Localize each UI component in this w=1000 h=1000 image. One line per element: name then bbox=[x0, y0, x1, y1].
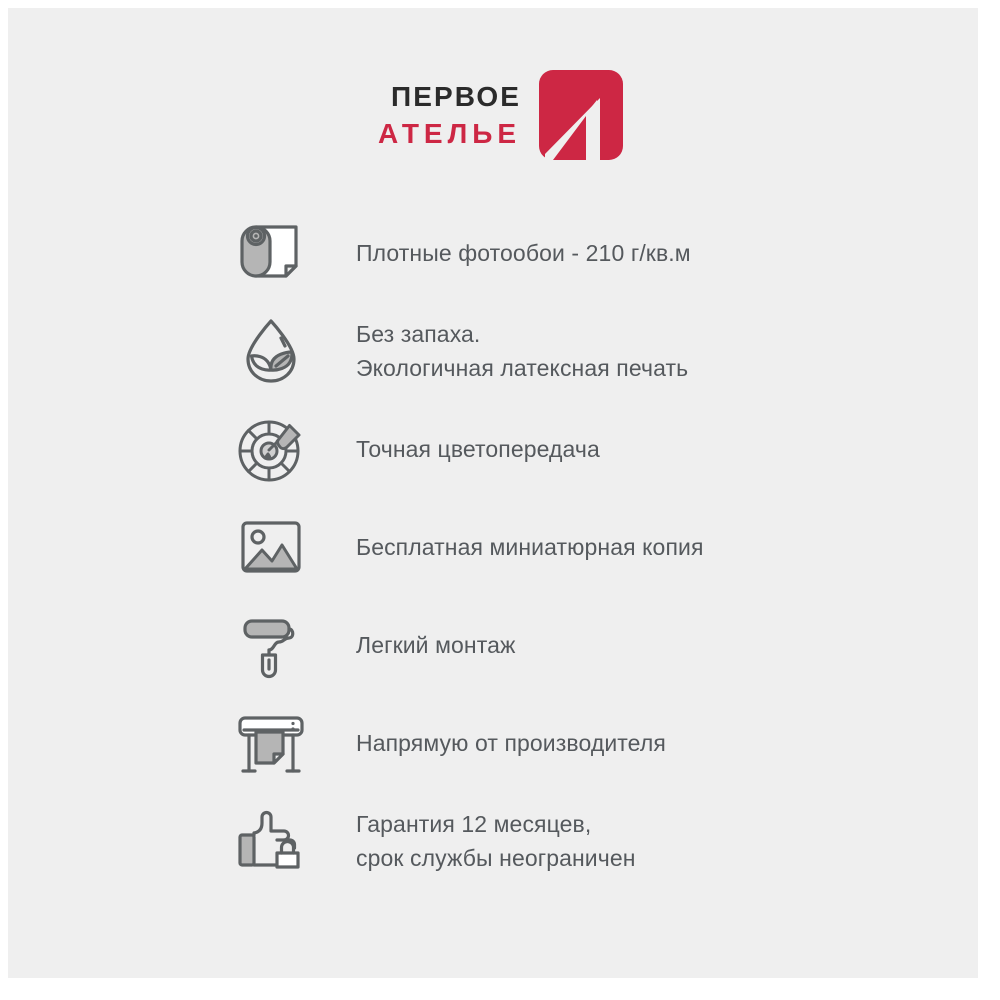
feature-label: Без запаха. Экологичная латексная печать bbox=[356, 317, 688, 385]
feature-label: Напрямую от производителя bbox=[356, 726, 666, 760]
feature-item: Напрямую от производителя bbox=[230, 694, 930, 792]
thumbs-up-lock-icon bbox=[230, 800, 312, 882]
feature-label: Гарантия 12 месяцев, срок службы неогран… bbox=[356, 807, 636, 875]
picture-frame-icon bbox=[230, 506, 312, 588]
feature-item: Точная цветопередача bbox=[230, 400, 930, 498]
wallpaper-roll-icon bbox=[230, 212, 312, 294]
red-arrow-mark-icon bbox=[539, 70, 623, 160]
feature-item: Плотные фотообои - 210 г/кв.м bbox=[230, 204, 930, 302]
feature-label: Бесплатная миниатюрная копия bbox=[356, 530, 704, 564]
feature-label: Легкий монтаж bbox=[356, 628, 515, 662]
content-panel: ПЕРВОЕ АТЕЛЬЕ bbox=[8, 8, 978, 978]
feature-label: Точная цветопередача bbox=[356, 432, 600, 466]
brand-wordmark: ПЕРВОЕ АТЕЛЬЕ bbox=[378, 83, 521, 148]
feature-item: Легкий монтаж bbox=[230, 596, 930, 694]
color-wheel-eyedropper-icon bbox=[230, 408, 312, 490]
feature-item: Гарантия 12 месяцев, срок службы неогран… bbox=[230, 792, 930, 890]
infographic-canvas: ПЕРВОЕ АТЕЛЬЕ bbox=[0, 0, 1000, 1000]
feature-label: Плотные фотообои - 210 г/кв.м bbox=[356, 236, 691, 270]
feature-item: Бесплатная миниатюрная копия bbox=[230, 498, 930, 596]
eco-droplet-leaf-icon bbox=[230, 310, 312, 392]
plotter-printer-icon bbox=[230, 702, 312, 784]
feature-item: Без запаха. Экологичная латексная печать bbox=[230, 302, 930, 400]
feature-list: Плотные фотообои - 210 г/кв.м bbox=[230, 204, 930, 890]
brand-name-line1: ПЕРВОЕ bbox=[391, 83, 521, 111]
brand-name-line2: АТЕЛЬЕ bbox=[378, 120, 521, 148]
brand-logo: ПЕРВОЕ АТЕЛЬЕ bbox=[378, 70, 623, 160]
paint-roller-icon bbox=[230, 604, 312, 686]
